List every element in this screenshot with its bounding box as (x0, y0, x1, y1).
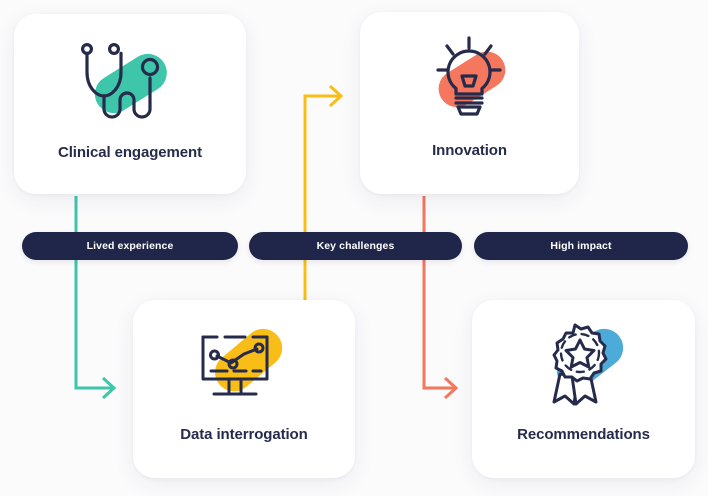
connector-data-to-innovation (305, 86, 341, 302)
pill-label: Lived experience (87, 240, 174, 252)
pill-key-challenges[interactable]: Key challenges (249, 232, 462, 260)
pill-lived-experience[interactable]: Lived experience (22, 232, 238, 260)
connector-clinical-to-data (76, 196, 114, 398)
card-title: Recommendations (517, 426, 650, 443)
card-title: Clinical engagement (58, 144, 202, 161)
award-rosette-icon (524, 316, 644, 412)
card-clinical-engagement[interactable]: Clinical engagement (14, 14, 246, 194)
pill-label: Key challenges (317, 240, 395, 252)
card-title: Innovation (432, 142, 507, 159)
connector-innovation-to-recommendations (424, 196, 456, 398)
lightbulb-icon (410, 32, 530, 128)
card-title: Data interrogation (180, 426, 307, 443)
diagram-canvas: Clinical engagement (0, 0, 708, 496)
pill-label: High impact (550, 240, 611, 252)
stethoscope-icon (70, 36, 190, 132)
card-recommendations[interactable]: Recommendations (472, 300, 695, 478)
card-innovation[interactable]: Innovation (360, 12, 579, 194)
monitor-chart-icon (184, 316, 304, 412)
pill-high-impact[interactable]: High impact (474, 232, 688, 260)
card-data-interrogation[interactable]: Data interrogation (133, 300, 355, 478)
